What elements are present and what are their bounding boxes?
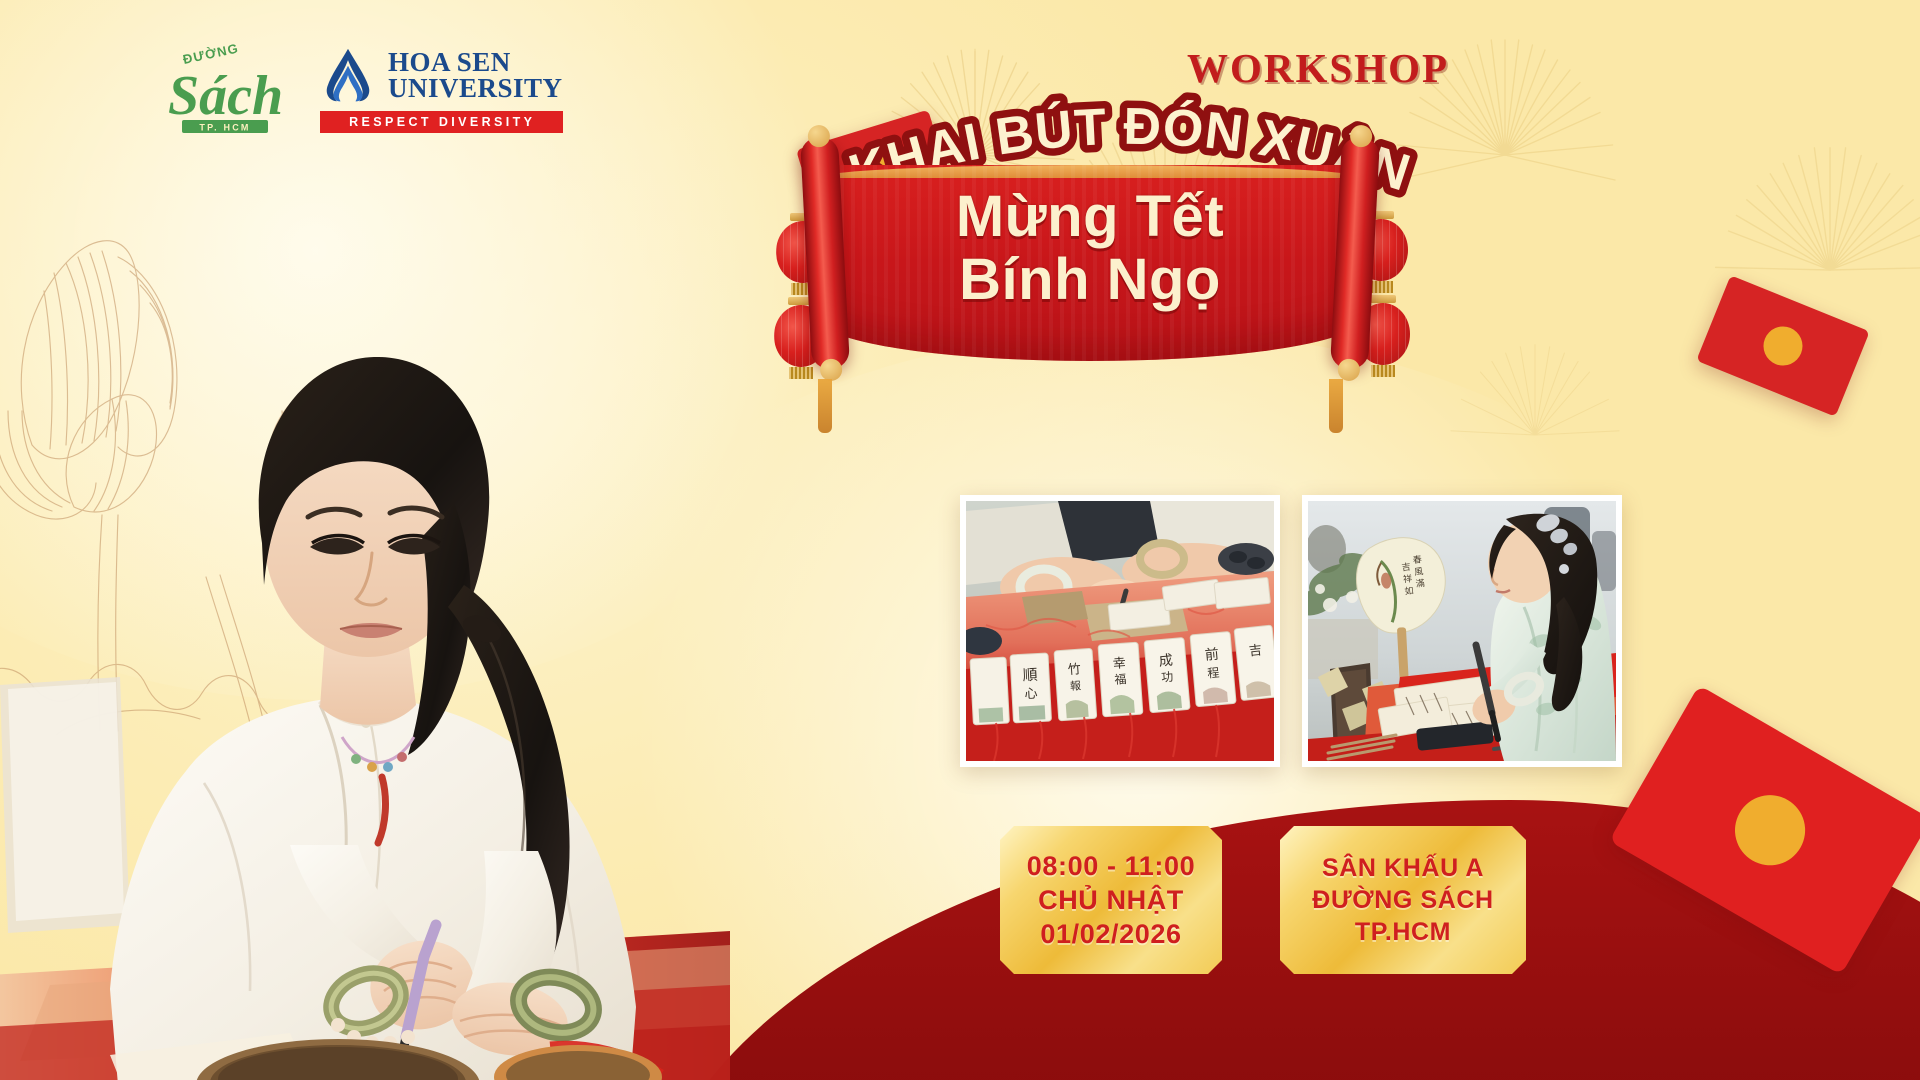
svg-text:如: 如: [1404, 584, 1414, 597]
scroll-tassel-left: [818, 379, 832, 433]
plaque-venue-line-2: ĐƯỜNG SÁCH: [1312, 886, 1493, 914]
photo-calligraphy-cards: 順 心 竹 報 幸 福: [960, 495, 1280, 767]
svg-text:竹: 竹: [1067, 662, 1081, 678]
svg-text:祥: 祥: [1402, 573, 1412, 586]
scroll-line-2: Bính Ngọ: [818, 250, 1362, 311]
logo-sach-bottom-word: TP. HCM: [199, 123, 250, 133]
plaque-time-line-3: 01/02/2026: [1040, 919, 1181, 949]
plaque-time-line-2: CHỦ NHẬT: [1038, 885, 1184, 915]
logo-duong-sach: ĐƯỜNG Sách TP. HCM: [160, 42, 286, 138]
svg-text:功: 功: [1161, 670, 1174, 685]
info-plaque-row: 08:00 - 11:00 CHỦ NHẬT 01/02/2026 SÂN KH…: [1000, 826, 1526, 974]
plaque-time-date: 08:00 - 11:00 CHỦ NHẬT 01/02/2026: [1000, 826, 1222, 974]
scroll-line-1: Mừng Tết: [818, 187, 1362, 248]
red-envelope-icon: [1696, 275, 1870, 416]
scroll-text-block: Mừng Tết Bính Ngọ: [818, 187, 1362, 311]
svg-text:滿: 滿: [1415, 577, 1425, 590]
scroll-tassel-right: [1329, 379, 1343, 433]
logo-sach-main-word: Sách: [168, 65, 283, 127]
svg-text:福: 福: [1114, 671, 1127, 687]
svg-text:報: 報: [1070, 679, 1082, 693]
poster-canvas: ĐƯỜNG Sách TP. HCM HOA SEN UNIVERSITY: [0, 0, 1920, 1080]
svg-text:程: 程: [1207, 665, 1220, 681]
logo-hoa-sen-university: HOA SEN UNIVERSITY RESPECT DIVERSITY: [320, 47, 563, 133]
lotus-line-art-decoration: [0, 215, 440, 735]
svg-text:吉: 吉: [1248, 643, 1263, 659]
svg-text:幸: 幸: [1112, 656, 1126, 672]
svg-text:吉: 吉: [1401, 562, 1411, 574]
hero-photo-calligrapher: [0, 285, 730, 1080]
svg-text:春: 春: [1412, 553, 1422, 566]
photo-woman-writing-with-fan: 春風滿 吉祥如: [1302, 495, 1622, 767]
hoa-sen-flame-mark-icon: [320, 47, 376, 105]
plaque-venue: SÂN KHẤU A ĐƯỜNG SÁCH TP.HCM: [1280, 826, 1526, 974]
svg-text:成: 成: [1158, 653, 1173, 670]
svg-text:心: 心: [1024, 687, 1038, 703]
envelope-seal-icon: [1758, 321, 1809, 372]
plaque-time-line-1: 08:00 - 11:00: [1027, 851, 1195, 881]
plaque-venue-line-3: TP.HCM: [1355, 918, 1451, 946]
hsu-line2: UNIVERSITY: [388, 76, 563, 102]
svg-text:風: 風: [1414, 566, 1424, 578]
plaque-venue-line-1: SÂN KHẤU A: [1322, 854, 1484, 882]
scroll-banner: Mừng Tết Bính Ngọ: [770, 155, 1410, 395]
photo-thumbnail-row: 順 心 竹 報 幸 福: [960, 495, 1622, 767]
logo-row: ĐƯỜNG Sách TP. HCM HOA SEN UNIVERSITY: [160, 42, 563, 138]
kicker-workshop: WORKSHOP: [1148, 44, 1488, 92]
svg-text:順: 順: [1022, 666, 1038, 685]
svg-text:前: 前: [1204, 646, 1219, 664]
logo-sach-top-word: ĐƯỜNG: [182, 42, 241, 67]
red-envelope-icon: [1609, 685, 1920, 975]
hsu-tagline: RESPECT DIVERSITY: [320, 111, 563, 133]
envelope-seal-icon: [1722, 782, 1817, 877]
